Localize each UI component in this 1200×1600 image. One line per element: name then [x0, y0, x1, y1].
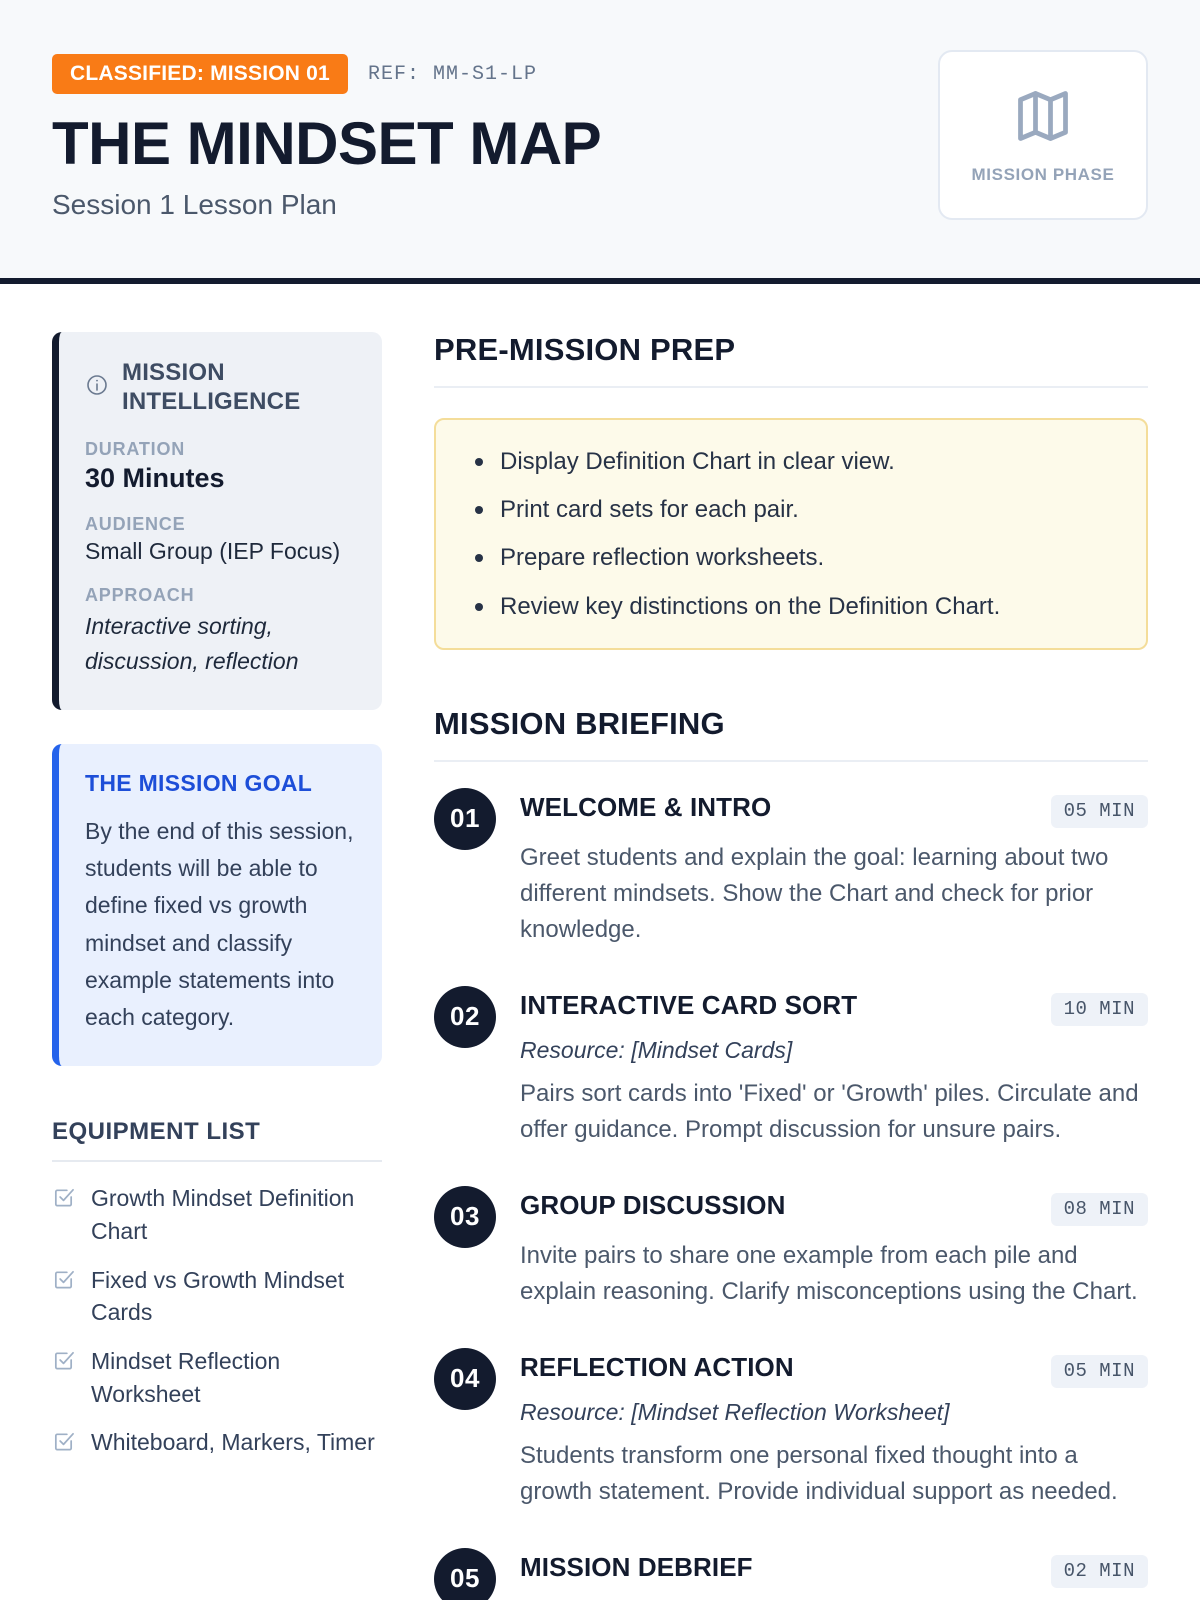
pre-mission-prep-box: Display Definition Chart in clear view. …	[434, 418, 1148, 650]
checkbox-checked-icon[interactable]	[52, 1268, 75, 1296]
main-column: PRE-MISSION PREP Display Definition Char…	[434, 332, 1148, 1600]
mission-phase-card: MISSION PHASE	[938, 50, 1148, 220]
list-item[interactable]: Fixed vs Growth Mindset Cards	[52, 1264, 382, 1329]
page-body: MISSION INTELLIGENCE DURATION 30 Minutes…	[0, 284, 1200, 1600]
step-body: INTERACTIVE CARD SORT 10 MIN Resource: […	[520, 986, 1148, 1148]
pre-mission-prep-title: PRE-MISSION PREP	[434, 332, 1148, 388]
checkbox-checked-icon[interactable]	[52, 1430, 75, 1458]
step-header: WELCOME & INTRO 05 MIN	[520, 793, 1148, 828]
audience-label: AUDIENCE	[85, 514, 356, 535]
page-header: CLASSIFIED: MISSION 01 REF: MM-S1-LP THE…	[0, 0, 1200, 284]
step-title: REFLECTION ACTION	[520, 1353, 794, 1383]
briefing-step: 01 WELCOME & INTRO 05 MIN Greet students…	[434, 788, 1148, 948]
prep-list: Display Definition Chart in clear view. …	[466, 446, 1116, 622]
prep-list-item: Prepare reflection worksheets.	[466, 542, 1116, 573]
list-item[interactable]: Whiteboard, Markers, Timer	[52, 1426, 382, 1459]
step-header: MISSION DEBRIEF 02 MIN	[520, 1553, 1148, 1588]
briefing-steps: 01 WELCOME & INTRO 05 MIN Greet students…	[434, 788, 1148, 1600]
briefing-step: 05 MISSION DEBRIEF 02 MIN	[434, 1548, 1148, 1600]
step-title: GROUP DISCUSSION	[520, 1191, 786, 1221]
step-header: GROUP DISCUSSION 08 MIN	[520, 1191, 1148, 1226]
mission-intelligence-card: MISSION INTELLIGENCE DURATION 30 Minutes…	[52, 332, 382, 710]
step-number-badge: 04	[434, 1348, 496, 1410]
mission-briefing-title: MISSION BRIEFING	[434, 706, 1148, 762]
briefing-step: 04 REFLECTION ACTION 05 MIN Resource: [M…	[434, 1348, 1148, 1510]
briefing-step: 02 INTERACTIVE CARD SORT 10 MIN Resource…	[434, 986, 1148, 1148]
step-header: INTERACTIVE CARD SORT 10 MIN	[520, 991, 1148, 1026]
step-description: Invite pairs to share one example from e…	[520, 1238, 1148, 1310]
classified-badge: CLASSIFIED: MISSION 01	[52, 54, 348, 94]
duration-label: DURATION	[85, 439, 356, 460]
lesson-plan-page: CLASSIFIED: MISSION 01 REF: MM-S1-LP THE…	[0, 0, 1200, 1600]
mission-intelligence-header: MISSION INTELLIGENCE	[85, 358, 356, 417]
map-icon	[1012, 86, 1074, 151]
prep-list-item: Review key distinctions on the Definitio…	[466, 591, 1116, 622]
step-header: REFLECTION ACTION 05 MIN	[520, 1353, 1148, 1388]
prep-list-item: Display Definition Chart in clear view.	[466, 446, 1116, 477]
equipment-item-label: Fixed vs Growth Mindset Cards	[91, 1264, 382, 1329]
duration-value: 30 Minutes	[85, 463, 356, 494]
step-duration-badge: 10 MIN	[1051, 993, 1148, 1026]
sidebar: MISSION INTELLIGENCE DURATION 30 Minutes…	[52, 332, 382, 1600]
step-body: MISSION DEBRIEF 02 MIN	[520, 1548, 1148, 1600]
step-body: WELCOME & INTRO 05 MIN Greet students an…	[520, 788, 1148, 948]
mission-intelligence-title: MISSION INTELLIGENCE	[122, 358, 356, 417]
mission-briefing-section: MISSION BRIEFING 01 WELCOME & INTRO 05 M…	[434, 706, 1148, 1600]
mission-goal-card: THE MISSION GOAL By the end of this sess…	[52, 744, 382, 1067]
step-number-badge: 02	[434, 986, 496, 1048]
list-item[interactable]: Growth Mindset Definition Chart	[52, 1182, 382, 1247]
checkbox-checked-icon[interactable]	[52, 1186, 75, 1214]
equipment-list-title: EQUIPMENT LIST	[52, 1118, 382, 1162]
info-circle-icon	[85, 373, 109, 402]
briefing-step: 03 GROUP DISCUSSION 08 MIN Invite pairs …	[434, 1186, 1148, 1310]
step-body: GROUP DISCUSSION 08 MIN Invite pairs to …	[520, 1186, 1148, 1310]
step-number-badge: 01	[434, 788, 496, 850]
approach-value: Interactive sorting, discussion, reflect…	[85, 609, 356, 680]
step-duration-badge: 05 MIN	[1051, 795, 1148, 828]
equipment-item-label: Mindset Reflection Worksheet	[91, 1345, 382, 1410]
equipment-item-label: Growth Mindset Definition Chart	[91, 1182, 382, 1247]
step-description: Pairs sort cards into 'Fixed' or 'Growth…	[520, 1076, 1148, 1148]
page-title: THE MINDSET MAP	[52, 112, 601, 175]
equipment-list: Growth Mindset Definition Chart Fixed vs…	[52, 1182, 382, 1459]
header-left: CLASSIFIED: MISSION 01 REF: MM-S1-LP THE…	[52, 46, 601, 221]
step-duration-badge: 08 MIN	[1051, 1193, 1148, 1226]
list-item[interactable]: Mindset Reflection Worksheet	[52, 1345, 382, 1410]
step-description: Greet students and explain the goal: lea…	[520, 840, 1148, 948]
step-resource: Resource: [Mindset Cards]	[520, 1037, 1148, 1064]
step-duration-badge: 02 MIN	[1051, 1555, 1148, 1588]
audience-value: Small Group (IEP Focus)	[85, 538, 356, 565]
step-resource: Resource: [Mindset Reflection Worksheet]	[520, 1399, 1148, 1426]
checkbox-checked-icon[interactable]	[52, 1349, 75, 1377]
step-duration-badge: 05 MIN	[1051, 1355, 1148, 1388]
reference-code: REF: MM-S1-LP	[368, 63, 537, 86]
mission-goal-title: THE MISSION GOAL	[85, 770, 356, 797]
page-subtitle: Session 1 Lesson Plan	[52, 189, 601, 221]
mission-phase-label: MISSION PHASE	[972, 165, 1115, 185]
tag-row: CLASSIFIED: MISSION 01 REF: MM-S1-LP	[52, 54, 601, 94]
step-title: INTERACTIVE CARD SORT	[520, 991, 857, 1021]
mission-goal-text: By the end of this session, students wil…	[85, 813, 356, 1037]
step-body: REFLECTION ACTION 05 MIN Resource: [Mind…	[520, 1348, 1148, 1510]
step-description: Students transform one personal fixed th…	[520, 1438, 1148, 1510]
step-number-badge: 03	[434, 1186, 496, 1248]
step-title: MISSION DEBRIEF	[520, 1553, 753, 1583]
approach-label: APPROACH	[85, 585, 356, 606]
prep-list-item: Print card sets for each pair.	[466, 494, 1116, 525]
step-title: WELCOME & INTRO	[520, 793, 771, 823]
step-number-badge: 05	[434, 1548, 496, 1600]
equipment-item-label: Whiteboard, Markers, Timer	[91, 1426, 375, 1459]
